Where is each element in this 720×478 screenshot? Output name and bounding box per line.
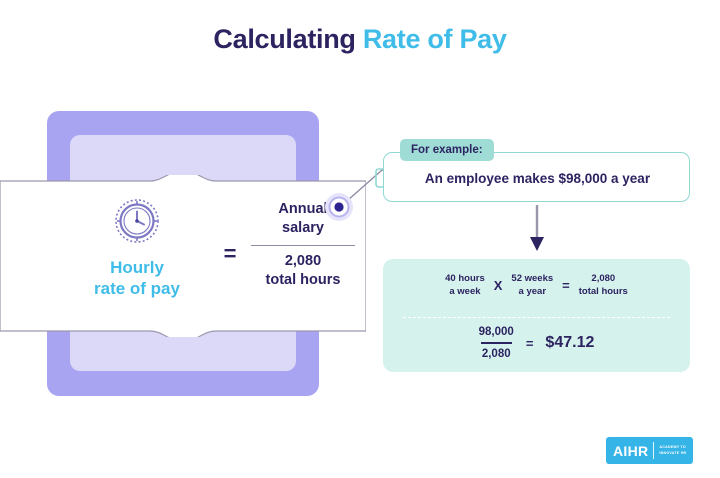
example-tab-connector	[375, 168, 385, 188]
logo-wordmark: AIHR	[613, 443, 648, 459]
example-badge: For example:	[400, 139, 494, 161]
calc-term1-line2: a week	[445, 286, 485, 299]
fraction-denominator-line1: 2,080	[247, 252, 359, 271]
arrow-down-icon	[527, 205, 547, 255]
hourly-rate-line2: rate of pay	[57, 278, 217, 299]
calc-final-result: $47.12	[545, 334, 594, 352]
calculation-box: 40 hours a week X 52 weeks a year = 2,08…	[383, 259, 690, 372]
calc-term-40-hours: 40 hours a week	[445, 273, 485, 299]
calculation-row-hours: 40 hours a week X 52 weeks a year = 2,08…	[383, 273, 690, 299]
title-part-calculating: Calculating	[213, 24, 355, 54]
page-title: Calculating Rate of Pay	[0, 24, 720, 55]
logo-tagline-line1: ACADEMY TO	[659, 445, 686, 450]
title-part-rate-of-pay: Rate of Pay	[363, 24, 507, 54]
calc-result-fraction-bar	[481, 342, 512, 344]
formula-content: Hourly rate of pay = Annual salary 2,080…	[47, 175, 366, 337]
calc-equals-sign-2: =	[514, 336, 546, 351]
fraction-bar	[251, 245, 355, 247]
calculation-divider	[403, 317, 670, 318]
logo-divider	[653, 442, 654, 459]
clock-icon	[109, 193, 165, 249]
calc-term-52-weeks: 52 weeks a year	[511, 273, 553, 299]
calculation-row-result: 98,000 2,080 = $47.12	[383, 325, 690, 361]
hourly-rate-line1: Hourly	[57, 257, 217, 278]
calc-term3-line2: total hours	[579, 286, 628, 299]
calc-result-fraction: 98,000 2,080	[479, 325, 514, 361]
fraction-denominator: 2,080 total hours	[247, 252, 359, 290]
connector-node	[324, 192, 354, 222]
calc-term2-line1: 52 weeks	[511, 273, 553, 286]
calc-result-denominator: 2,080	[479, 347, 514, 361]
calc-term3-line1: 2,080	[579, 273, 628, 286]
calc-result-numerator: 98,000	[479, 325, 514, 339]
formula-equals-sign: =	[217, 241, 243, 267]
hourly-rate-label: Hourly rate of pay	[57, 257, 217, 300]
calc-term1-line1: 40 hours	[445, 273, 485, 286]
fraction-denominator-line2: total hours	[247, 271, 359, 290]
aihr-logo: AIHR ACADEMY TO INNOVATE HR	[606, 437, 693, 464]
infographic-canvas: Calculating Rate of Pay	[0, 0, 720, 478]
calc-term2-line2: a year	[511, 286, 553, 299]
calc-multiply-sign: X	[485, 278, 512, 293]
logo-tagline: ACADEMY TO INNOVATE HR	[659, 445, 686, 456]
formula-panel: Hourly rate of pay = Annual salary 2,080…	[47, 111, 319, 396]
calc-term-total-hours: 2,080 total hours	[579, 273, 628, 299]
calc-equals-sign-1: =	[553, 278, 579, 293]
logo-tagline-line2: INNOVATE HR	[659, 451, 686, 456]
